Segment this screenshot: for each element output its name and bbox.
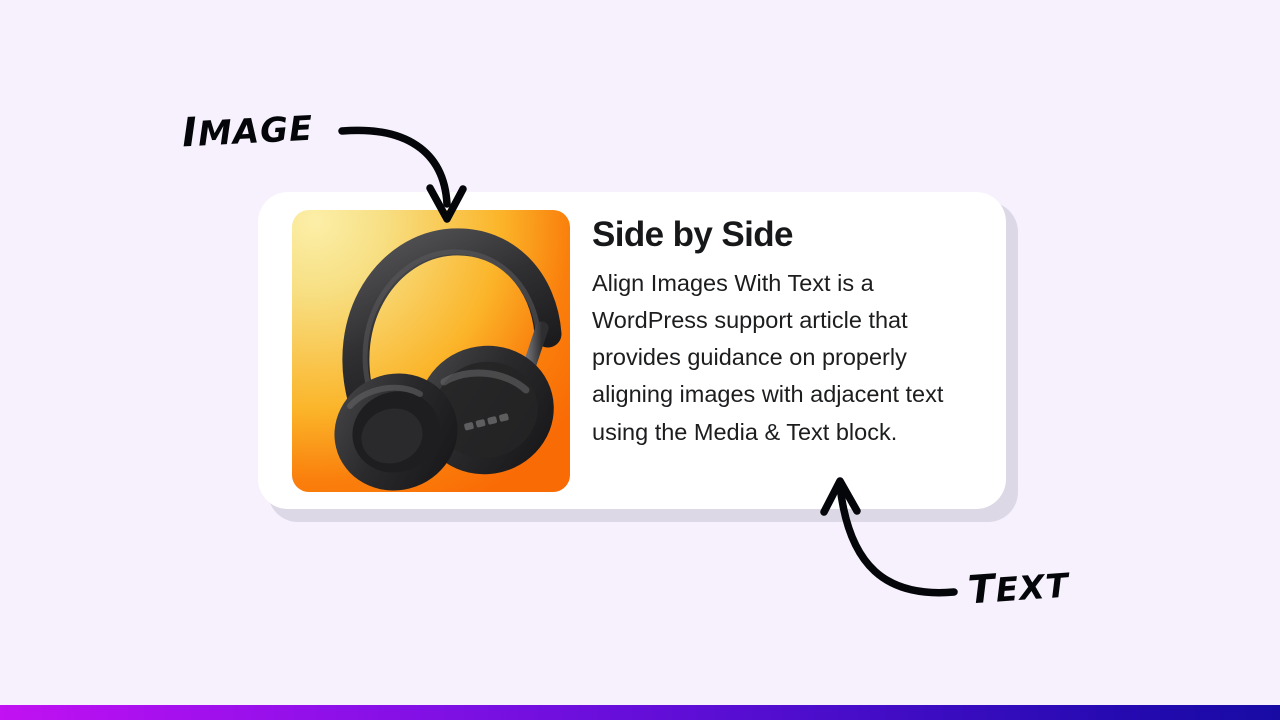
card-image-tile <box>292 210 570 492</box>
card-body-text: Align Images With Text is a WordPress su… <box>592 265 952 451</box>
image-label-rest: MAGE <box>197 109 314 155</box>
page-root: Side by Side Align Images With Text is a… <box>0 0 1280 720</box>
text-label-lead: T <box>967 567 998 614</box>
card-title: Side by Side <box>592 216 952 253</box>
headphones-image <box>292 210 570 492</box>
text-label-rest: EXT <box>994 566 1070 610</box>
bottom-gradient-bar <box>0 705 1280 720</box>
image-annotation-label: IMAGE <box>181 104 314 157</box>
card-text-column: Side by Side Align Images With Text is a… <box>570 192 980 451</box>
text-annotation-label: TEXT <box>967 562 1071 614</box>
media-text-card: Side by Side Align Images With Text is a… <box>258 192 1006 509</box>
